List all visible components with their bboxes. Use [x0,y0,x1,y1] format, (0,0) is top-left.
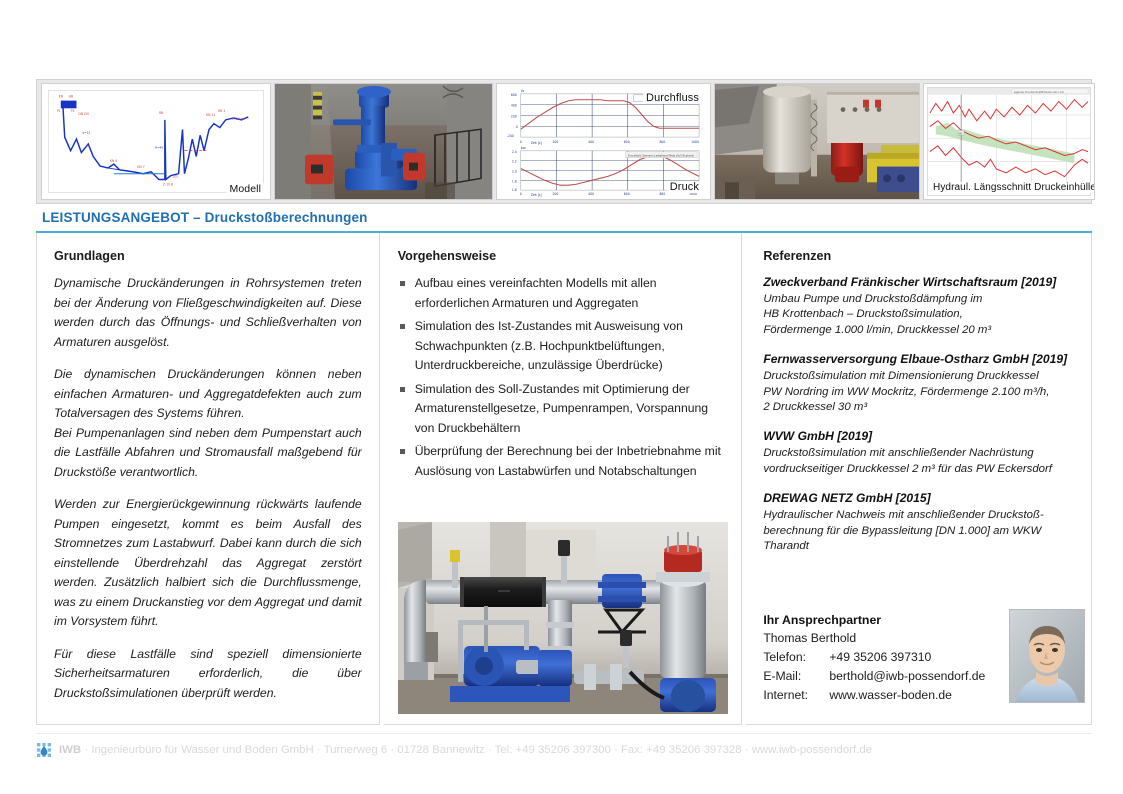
footer-divider [36,733,1092,734]
svg-text:1.6: 1.6 [512,188,517,192]
svg-text:HB: HB [69,95,73,99]
svg-text:2.0: 2.0 [512,169,517,173]
grundlagen-paragraph-1: Dynamische Druckänderungen in Rohrsystem… [54,274,362,352]
svg-text:400: 400 [588,192,594,196]
column-referenzen: Referenzen Zweckverband Fränkischer Wirt… [746,233,1092,725]
svg-text:RB: RB [159,111,163,115]
referenzen-heading: Referenzen [763,249,1075,263]
svg-text:KN 4: KN 4 [110,159,117,163]
list-item: Aufbau eines vereinfachten Modells mit a… [398,274,728,313]
gallery-item-pressure-envelope-chart[interactable]: Legende: Druckeinh\u00fcllende max / min [923,83,1095,200]
gallery-caption-druck: Druck [667,181,702,193]
svg-text:Zeit [s]: Zeit [s] [531,141,542,145]
gallery-item-model-diagram[interactable]: KBHB P1P2 DN150 RB Z-10.8 Sch. KN 12 HB … [41,83,271,200]
svg-text:Zeit [s]: Zeit [s] [531,193,542,197]
svg-text:600: 600 [624,192,630,196]
svg-text:0: 0 [520,192,522,196]
image-gallery-strip: KBHB P1P2 DN150 RB Z-10.8 Sch. KN 12 HB … [36,79,1092,204]
svg-text:1.8: 1.8 [512,179,517,183]
svg-text:200: 200 [552,140,558,144]
svg-text:600: 600 [624,140,630,144]
section-title: LEISTUNGSANGEBOT – Druckstoßberechnungen [42,210,368,225]
gallery-caption-model: Modell [226,183,264,195]
svg-text:L=3 km: L=3 km [232,117,244,121]
svg-text:Sch.: Sch. [173,175,180,179]
svg-text:-200: -200 [507,134,514,138]
reference-line: Umbau Pumpe und Druckstoßdämpfung im [763,292,1075,307]
gallery-item-valve-chamber-photo[interactable] [274,83,493,200]
contact-internet-value[interactable]: www.wasser-boden.de [829,686,952,705]
iwb-waterdrop-logo-icon [36,742,52,758]
svg-text:2.2: 2.2 [512,160,517,164]
reference-line: Fördermenge 1.000 l/min, Druckkessel 20 … [763,323,1075,338]
svg-text:50: 50 [958,131,962,135]
footer-address: · Ingenieurbüro für Wasser und Boden Gmb… [84,744,872,756]
svg-text:1000: 1000 [691,140,699,144]
svg-text:HB 2: HB 2 [218,109,226,113]
slide-page: KBHB P1P2 DN150 RB Z-10.8 Sch. KN 12 HB … [0,0,1123,794]
contact-block: Ihr Ansprechpartner Thomas Berthold Tele… [763,613,1083,705]
footer-brand: IWB [59,744,81,756]
svg-text:400: 400 [588,140,594,144]
footer-text: IWB · Ingenieurbüro für Wasser und Boden… [59,744,872,756]
reference-line: HB Krottenbach – Druckstoßsimulation, [763,307,1075,322]
svg-text:800: 800 [659,192,665,196]
column-grundlagen: Grundlagen Dynamische Druckänderungen in… [36,233,380,725]
svg-text:KN 12: KN 12 [206,113,215,117]
svg-text:KN 7: KN 7 [137,165,144,169]
content-columns: Grundlagen Dynamische Druckänderungen in… [36,233,1092,725]
svg-text:800: 800 [659,140,665,144]
list-item: Simulation des Soll-Zustandes mit Optimi… [398,380,728,439]
reference-line: vordruckseitiger Druckkessel 2 m³ für da… [763,462,1075,477]
pressure-envelope-canvas: Legende: Druckeinh\u00fcllende max / min [927,87,1091,196]
reference-line: 2 Druckkessel 30 m³ [763,400,1075,415]
contact-internet-label: Internet: [763,686,829,705]
svg-text:0: 0 [516,125,518,129]
list-item: Simulation des Ist-Zustandes mit Ausweis… [398,317,728,376]
svg-text:q=12: q=12 [82,130,90,134]
reference-line: Druckstoßsimulation mit anschließender N… [763,446,1075,461]
contact-email-value[interactable]: berthold@iwb-possendorf.de [829,667,985,686]
svg-text:0: 0 [520,140,522,144]
svg-text:DN150: DN150 [78,112,89,116]
contact-phone-value[interactable]: +49 35206 397310 [829,648,931,667]
reference-title: WVW GmbH [2019] [763,428,1075,445]
svg-text:P2: P2 [71,109,75,113]
reference-line: PW Nordring im WW Mockritz, Fördermenge … [763,385,1075,400]
svg-text:H=45: H=45 [155,146,164,150]
reference-line: Hydraulischer Nachweis mit anschließende… [763,508,1075,523]
svg-text:2.4: 2.4 [512,150,517,154]
gallery-caption-envelope: Hydraul. Längsschnitt Druckeinhüllende [930,182,1095,193]
pumping-station-interior-photo[interactable] [398,522,728,714]
model-diagram-canvas: KBHB P1P2 DN150 RB Z-10.8 Sch. KN 12 HB … [48,90,264,193]
grundlagen-heading: Grundlagen [54,249,362,263]
svg-text:KB: KB [59,95,63,99]
svg-text:A1: A1 [86,144,90,148]
grundlagen-paragraph-5: Für diese Lastfälle sind speziell dimens… [54,645,362,704]
contact-phone-label: Telefon: [763,648,829,667]
column-vorgehensweise: Vorgehensweise Aufbau eines vereinfachte… [384,233,743,725]
gallery-item-pump-station-photo[interactable] [714,83,920,200]
vorgehensweise-heading: Vorgehensweise [398,249,728,263]
reference-title: Zweckverband Fränkischer Wirtschaftsraum… [763,274,1075,291]
reference-entry: Zweckverband Fränkischer Wirtschaftsraum… [763,274,1075,338]
list-item: Überprüfung der Berechnung bei der Inbet… [398,442,728,481]
svg-text:bar: bar [521,146,527,150]
vorgehensweise-list: Aufbau eines vereinfachten Modells mit a… [398,274,728,481]
reference-line: berechnung für die Bypassleitung [DN 1.0… [763,524,1075,539]
svg-text:200: 200 [511,114,517,118]
svg-text:l/s: l/s [521,89,525,93]
valve-chamber-image [275,84,492,199]
reference-entry: Fernwasserversorgung Elbaue-Ostharz GmbH… [763,351,1075,415]
svg-text:200: 200 [552,192,558,196]
gallery-caption-durchfluss: Durchfluss [643,92,702,104]
grundlagen-paragraph-4: Werden zur Energierückgewinnung rückwärt… [54,495,362,632]
grundlagen-paragraph-3: Bei Pumpenanlagen sind neben dem Pumpens… [54,424,362,483]
svg-text:P1: P1 [57,109,61,113]
svg-text:Druckstoß: Szenario Lastabwurf: Druckstoß: Szenario Lastabwurf Netz (Sol… [628,153,694,157]
svg-text:Z-10.8: Z-10.8 [163,182,173,186]
reference-entry: DREWAG NETZ GmbH [2015] Hydraulischer Na… [763,490,1075,554]
svg-text:Legende: Druckeinh\u00fcllende: Legende: Druckeinh\u00fcllende max / min [1014,91,1065,94]
page-footer: IWB · Ingenieurbüro für Wasser und Boden… [36,739,1092,761]
gallery-item-flow-pressure-charts[interactable]: l/s 600400 2000-200 0200400 6008001000 Z… [496,83,711,200]
reference-title: DREWAG NETZ GmbH [2015] [763,490,1075,507]
reference-title: Fernwasserversorgung Elbaue-Ostharz GmbH… [763,351,1075,368]
reference-entry: WVW GmbH [2019] Druckstoßsimulation mit … [763,428,1075,477]
contact-email-label: E-Mail: [763,667,829,686]
reference-line: Tharandt [763,539,1075,554]
reference-line: Druckstoßsimulation mit Dimensionierung … [763,369,1075,384]
pump-station-image [715,84,919,199]
contact-person-name: Thomas Berthold [763,629,856,648]
svg-text:400: 400 [511,104,517,108]
grundlagen-paragraph-2: Die dynamischen Druckänderungen können n… [54,365,362,424]
svg-text:600: 600 [511,93,517,97]
avatar [1009,609,1085,703]
